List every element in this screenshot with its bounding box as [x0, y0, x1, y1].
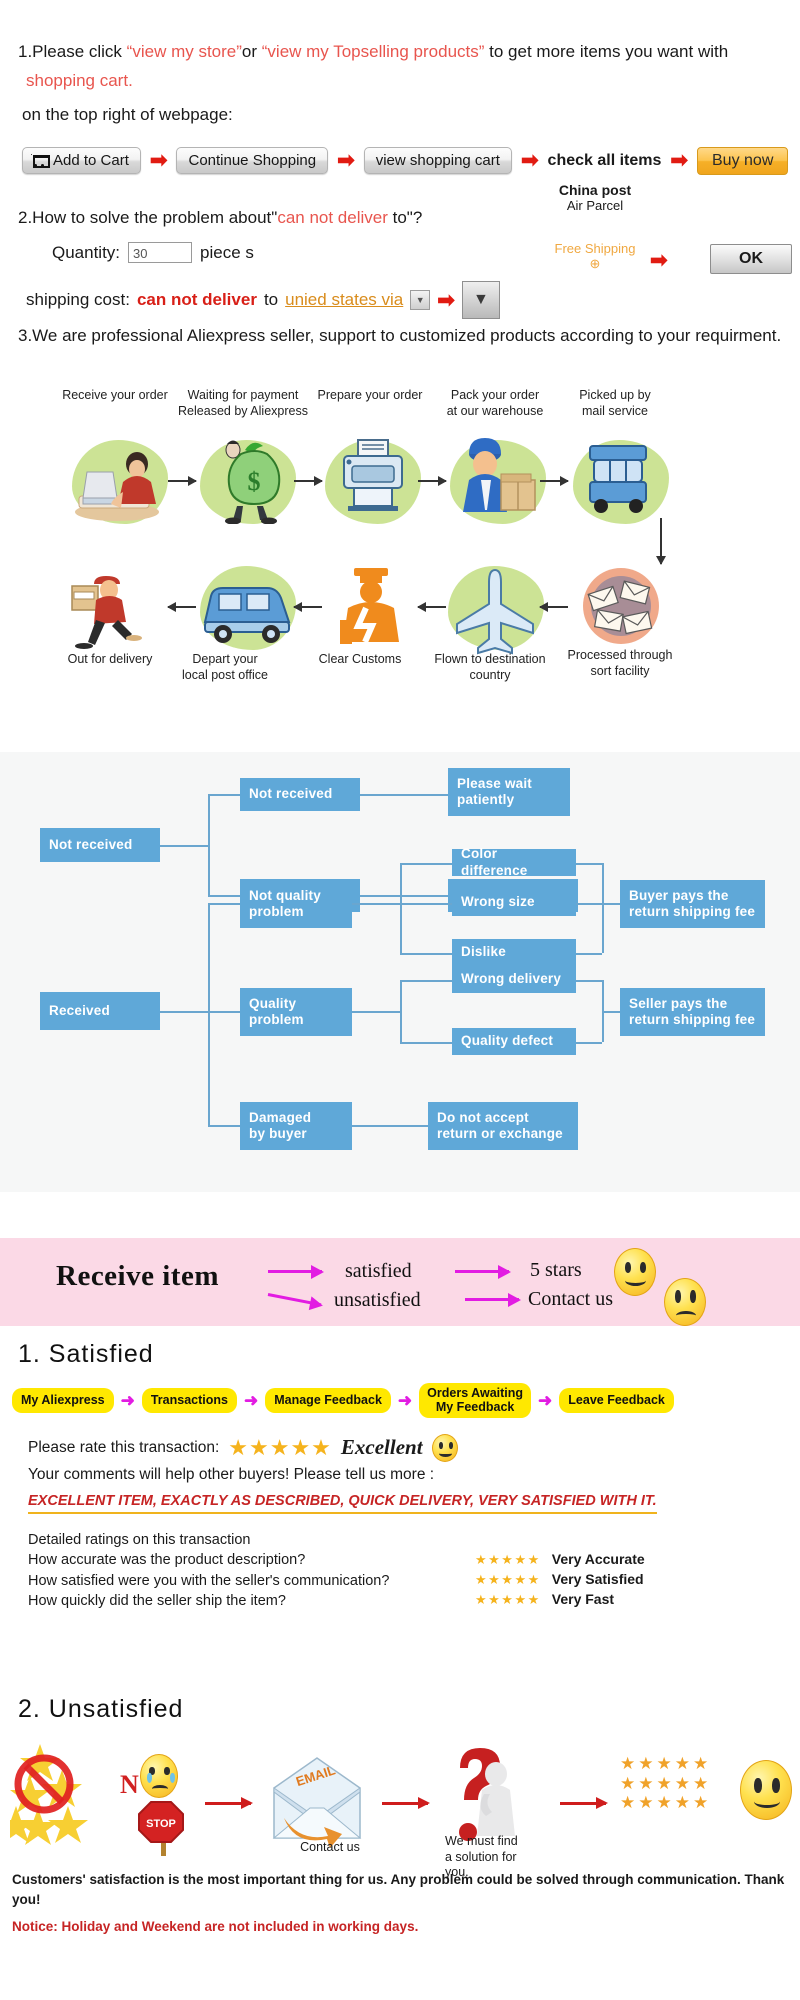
connector	[208, 903, 210, 1125]
connector	[352, 1011, 400, 1013]
unsatisfied-icon-row: N STOP EMAIL Contact us	[0, 1734, 800, 1864]
step-transactions[interactable]: Transactions	[142, 1388, 237, 1412]
flow-arrow-left-icon	[540, 606, 568, 608]
magenta-arrow-icon	[455, 1270, 509, 1273]
sad-face-icon	[664, 1278, 706, 1326]
node-buyer-pays-fee: Buyer pays the return shipping fee	[620, 880, 765, 928]
country-dropdown-caret[interactable]: ▼	[410, 290, 430, 310]
flow-arrow-left-icon	[168, 606, 196, 608]
country-select-link[interactable]: unied states via	[285, 290, 403, 310]
view-shopping-cart-label: view shopping cart	[376, 152, 500, 169]
flow-arrow-left-icon	[294, 606, 322, 608]
carrier-subtitle: Air Parcel	[530, 198, 660, 213]
flow-step-8: Clear Customs	[290, 652, 430, 668]
arrow-right-icon: ➡	[437, 290, 455, 311]
arrow-right-icon: ➡	[650, 250, 668, 271]
connector	[576, 863, 602, 865]
free-shipping-text: Free Shipping	[555, 241, 636, 256]
buy-now-label: Buy now	[712, 152, 773, 169]
top-right-text: on the top right of webpage:	[0, 105, 800, 125]
connector	[360, 895, 448, 897]
flow-arrow-icon	[294, 480, 322, 482]
node-quality-defect: Quality defect	[452, 1028, 576, 1055]
shipping-to-text: to	[264, 290, 278, 310]
connector	[400, 1042, 452, 1044]
cart-button-row: Add to Cart ➡ Continue Shopping ➡ view s…	[0, 147, 800, 175]
detailed-rating-row: ★★★★★ Very Accurate	[475, 1550, 645, 1570]
running-courier-icon	[62, 560, 172, 652]
rating-stars: ★★★★★	[475, 1591, 541, 1609]
flow-step-7: Depart your local post office	[155, 652, 295, 683]
check-all-items-label[interactable]: check all items	[548, 152, 662, 170]
carrier-block: China post Air Parcel	[530, 182, 660, 213]
flow-step-8-label: Clear Customs	[290, 652, 430, 668]
airplane-icon	[443, 564, 553, 656]
detailed-ratings-block: Detailed ratings on this transaction How…	[0, 1530, 800, 1612]
stars-row: ★★★★★	[620, 1793, 758, 1813]
stars-row: ★★★★★	[620, 1754, 758, 1774]
flow-step-2-label: Waiting for payment Released by Aliexpre…	[173, 388, 313, 419]
money-bag-icon: $	[193, 432, 303, 524]
flow-step-3-label: Prepare your order	[300, 388, 440, 404]
detailed-rating-row: ★★★★★ Very Satisfied	[475, 1570, 645, 1590]
flow-arrow-down-icon	[660, 518, 662, 564]
quantity-row: Quantity: 30 piece s	[0, 242, 800, 263]
arrow-right-icon: ➜	[244, 1392, 258, 1409]
flow-step-4-label: Pack your order at our warehouse	[425, 388, 565, 419]
happy-face-icon	[614, 1248, 656, 1296]
connector	[208, 1011, 240, 1013]
worker-with-box-icon	[443, 430, 553, 522]
continue-shopping-label: Continue Shopping	[188, 152, 316, 169]
flow-step-1-label: Receive your order	[45, 388, 185, 404]
connector	[208, 794, 210, 895]
van-icon	[193, 564, 303, 656]
connector	[400, 863, 402, 953]
node-please-wait: Please wait patiently	[448, 768, 570, 816]
red-arrow-icon	[560, 1802, 606, 1805]
unsatisfied-heading: 2. Unsatisfied	[0, 1695, 800, 1724]
rate-prompt: Please rate this transaction:	[28, 1439, 219, 1457]
shopping-cart-text: shopping cart.	[0, 71, 800, 91]
rating-question-3: How quickly did the seller ship the item…	[28, 1591, 800, 1612]
ok-button[interactable]: OK	[710, 244, 792, 274]
connector	[576, 1042, 602, 1044]
contact-us-text: Contact us	[528, 1288, 613, 1311]
connector	[352, 903, 400, 905]
node-seller-pays-fee: Seller pays the return shipping fee	[620, 988, 765, 1036]
intro-suffix: to get more items you want with	[484, 42, 728, 61]
flow-arrow-icon	[418, 480, 446, 482]
flow-step-7-label: Depart your local post office	[155, 652, 295, 683]
connector	[400, 903, 452, 905]
arrow-right-icon: ➜	[398, 1392, 412, 1409]
customs-officer-icon	[318, 560, 428, 652]
arrow-right-icon: ➜	[121, 1392, 135, 1409]
unsatisfied-word: unsatisfied	[334, 1289, 421, 1312]
rating-label: Very Fast	[552, 1590, 614, 1610]
connector	[360, 794, 448, 796]
footer-notice-text: Notice: Holiday and Weekend are not incl…	[0, 1919, 800, 1934]
no-letter: N	[120, 1770, 139, 1800]
connector	[400, 980, 402, 1042]
returns-policy-flowchart: Not received Not received Returned/Lost …	[0, 752, 800, 1192]
quantity-label: Quantity:	[52, 243, 120, 263]
add-to-cart-button[interactable]: Add to Cart	[22, 147, 141, 174]
flow-step-9: Flown to destination country	[420, 652, 560, 683]
step-leave-feedback[interactable]: Leave Feedback	[559, 1388, 674, 1412]
connector	[352, 1125, 428, 1127]
flow-step-2: Waiting for payment Released by Aliexpre…	[173, 388, 313, 419]
rating-stars: ★★★★★	[475, 1571, 541, 1589]
connector	[400, 863, 452, 865]
satisfied-section: 1. Satisfied My Aliexpress ➜ Transaction…	[0, 1340, 800, 1612]
s2-title-suffix: to"?	[388, 208, 422, 227]
connector	[160, 1011, 208, 1013]
arrow-right-icon: ➜	[538, 1392, 552, 1409]
section-three: 3.We are professional Aliexpress seller,…	[0, 326, 800, 346]
step-my-aliexpress[interactable]: My Aliexpress	[12, 1388, 114, 1412]
rate-transaction-row: Please rate this transaction: ★★★★★ Exce…	[0, 1434, 800, 1462]
view-topselling-link[interactable]: “view my Topselling products”	[262, 42, 485, 61]
node-wrong-delivery: Wrong delivery	[452, 966, 576, 993]
shipping-cost-row: shipping cost:can not deliver to unied s…	[0, 281, 800, 319]
s2-title-red: can not deliver	[277, 208, 388, 227]
five-stars-text: 5 stars	[530, 1259, 582, 1282]
connector	[160, 845, 208, 847]
connector	[576, 903, 602, 905]
piece-label: piece s	[200, 243, 254, 263]
stars-row: ★★★★★	[620, 1774, 758, 1794]
happy-face-icon	[740, 1760, 792, 1820]
step-orders-awaiting-my-feedback[interactable]: Orders Awaiting My Feedback	[419, 1383, 531, 1418]
buyer-comment-text: EXCELLENT ITEM, EXACTLY AS DESCRIBED, QU…	[28, 1493, 657, 1514]
crying-face-icon	[140, 1754, 178, 1798]
connector	[602, 903, 620, 905]
connector	[576, 953, 602, 955]
node-no-return-exchange: Do not accept return or exchange	[428, 1102, 578, 1150]
question-mark-person-icon	[430, 1742, 540, 1848]
carrier-name: China post	[530, 182, 660, 198]
intro-prefix: 1.Please click	[18, 42, 127, 61]
shipping-cost-label: shipping cost:	[26, 290, 130, 310]
mail-pile-icon	[566, 560, 676, 652]
satisfied-word: satisfied	[345, 1260, 412, 1283]
stop-sign-icon: STOP	[137, 1800, 189, 1858]
receive-item-band: Receive item satisfied unsatisfied 5 sta…	[0, 1238, 800, 1326]
flow-step-3: Prepare your order	[300, 388, 440, 404]
flow-arrow-icon	[168, 480, 196, 482]
rating-question-2: How satisfied were you with the seller's…	[28, 1571, 800, 1592]
magenta-arrow-icon	[268, 1293, 322, 1306]
connector	[208, 895, 240, 897]
rating-word: Excellent	[341, 1435, 423, 1460]
printer-icon	[318, 432, 428, 524]
node-damaged-by-buyer: Damaged by buyer	[240, 1102, 352, 1150]
arrow-right-icon: ➡	[150, 150, 168, 171]
node-received-root: Received	[40, 992, 160, 1030]
connector	[576, 980, 602, 982]
detailed-rating-row: ★★★★★ Very Fast	[475, 1590, 645, 1610]
step-manage-feedback[interactable]: Manage Feedback	[265, 1388, 391, 1412]
connector	[208, 794, 240, 796]
person-at-computer-icon	[65, 434, 175, 526]
free-shipping-mark-icon: ⊕	[545, 257, 645, 272]
section-two: 2.How to solve the problem about"can not…	[0, 208, 800, 319]
flow-arrow-icon	[540, 480, 568, 482]
truck-icon	[566, 432, 676, 524]
section-two-title: 2.How to solve the problem about"can not…	[0, 208, 800, 228]
comments-prompt: Your comments will help other buyers! Pl…	[0, 1466, 800, 1484]
flow-step-10-label: Processed through sort facility	[550, 648, 690, 679]
feedback-steps-row: My Aliexpress ➜ Transactions ➜ Manage Fe…	[0, 1383, 800, 1418]
detailed-ratings-title: Detailed ratings on this transaction	[28, 1530, 800, 1551]
node-dislike: Dislike	[452, 939, 576, 966]
detailed-rating-values: ★★★★★ Very Accurate ★★★★★ Very Satisfied…	[475, 1550, 645, 1610]
flow-step-1: Receive your order	[45, 388, 185, 404]
unsatisfied-section: 2. Unsatisfied N ST	[0, 1695, 800, 1934]
cannot-deliver-text: can not deliver	[137, 290, 257, 310]
connector	[602, 1011, 620, 1013]
rating-stars[interactable]: ★★★★★	[228, 1437, 332, 1459]
rating-question-1: How accurate was the product description…	[28, 1550, 800, 1571]
arrow-right-icon: ➡	[521, 150, 539, 171]
rating-label: Very Satisfied	[552, 1570, 644, 1590]
flow-step-5-label: Picked up by mail service	[545, 388, 685, 419]
happy-face-icon	[432, 1434, 458, 1462]
node-not-quality-problem: Not quality problem	[240, 880, 352, 928]
shipping-method-dropdown[interactable]: ▼	[462, 281, 500, 319]
fifteen-stars-grid: ★★★★★ ★★★★★ ★★★★★	[620, 1754, 758, 1813]
connector	[208, 903, 240, 905]
section-one-intro: 1.Please click “view my store”or “view m…	[0, 40, 800, 65]
stop-label: STOP	[146, 1818, 176, 1830]
no-stars-icon	[10, 1740, 130, 1860]
node-quality-problem: Quality problem	[240, 988, 352, 1036]
connector	[400, 980, 452, 982]
view-my-store-link[interactable]: “view my store”	[127, 42, 242, 61]
flow-step-4: Pack your order at our warehouse	[425, 388, 565, 419]
node-not-received-root: Not received	[40, 828, 160, 862]
free-shipping-label: Free Shipping ⊕	[545, 242, 645, 272]
continue-shopping-button[interactable]: Continue Shopping	[176, 147, 328, 174]
rating-stars: ★★★★★	[475, 1551, 541, 1569]
add-to-cart-label: Add to Cart	[53, 152, 129, 169]
intro-mid: or	[242, 42, 262, 61]
quantity-input[interactable]: 30	[128, 242, 192, 263]
contact-us-caption: Contact us	[275, 1840, 385, 1856]
node-not-received-child: Not received	[240, 778, 360, 811]
buy-now-button[interactable]: Buy now	[697, 147, 788, 175]
node-wrong-size: Wrong size	[452, 889, 576, 916]
flow-step-10: Processed through sort facility	[550, 648, 690, 679]
section-three-title: 3.We are professional Aliexpress seller,…	[0, 326, 800, 346]
flow-arrow-left-icon	[418, 606, 446, 608]
view-shopping-cart-button[interactable]: view shopping cart	[364, 147, 512, 174]
connector	[602, 863, 604, 953]
arrow-right-icon: ➡	[670, 150, 688, 171]
rating-label: Very Accurate	[552, 1550, 645, 1570]
red-arrow-icon	[382, 1802, 428, 1805]
email-envelope-icon: EMAIL	[262, 1752, 372, 1848]
s2-title-prefix: 2.How to solve the problem about	[18, 208, 271, 227]
section-one: 1.Please click “view my store”or “view m…	[0, 40, 800, 175]
shopping-cart-icon	[30, 153, 48, 169]
connector	[208, 1125, 240, 1127]
receive-item-title: Receive item	[56, 1260, 219, 1293]
red-arrow-icon	[205, 1802, 251, 1805]
flow-step-5: Picked up by mail service	[545, 388, 685, 419]
magenta-arrow-icon	[465, 1298, 519, 1301]
flow-step-9-label: Flown to destination country	[420, 652, 560, 683]
magenta-arrow-icon	[268, 1270, 322, 1273]
node-color-difference: Color difference	[452, 849, 576, 876]
solution-caption: We must find a solution for you.	[445, 1834, 518, 1881]
satisfied-heading: 1. Satisfied	[0, 1340, 800, 1369]
arrow-right-icon: ➡	[337, 150, 355, 171]
shipping-flow-diagram: Receive your order Waiting for payment R…	[0, 388, 800, 738]
svg-text:$: $	[248, 467, 261, 496]
footer-satisfaction-text: Customers' satisfaction is the most impo…	[0, 1870, 800, 1909]
connector	[400, 953, 452, 955]
